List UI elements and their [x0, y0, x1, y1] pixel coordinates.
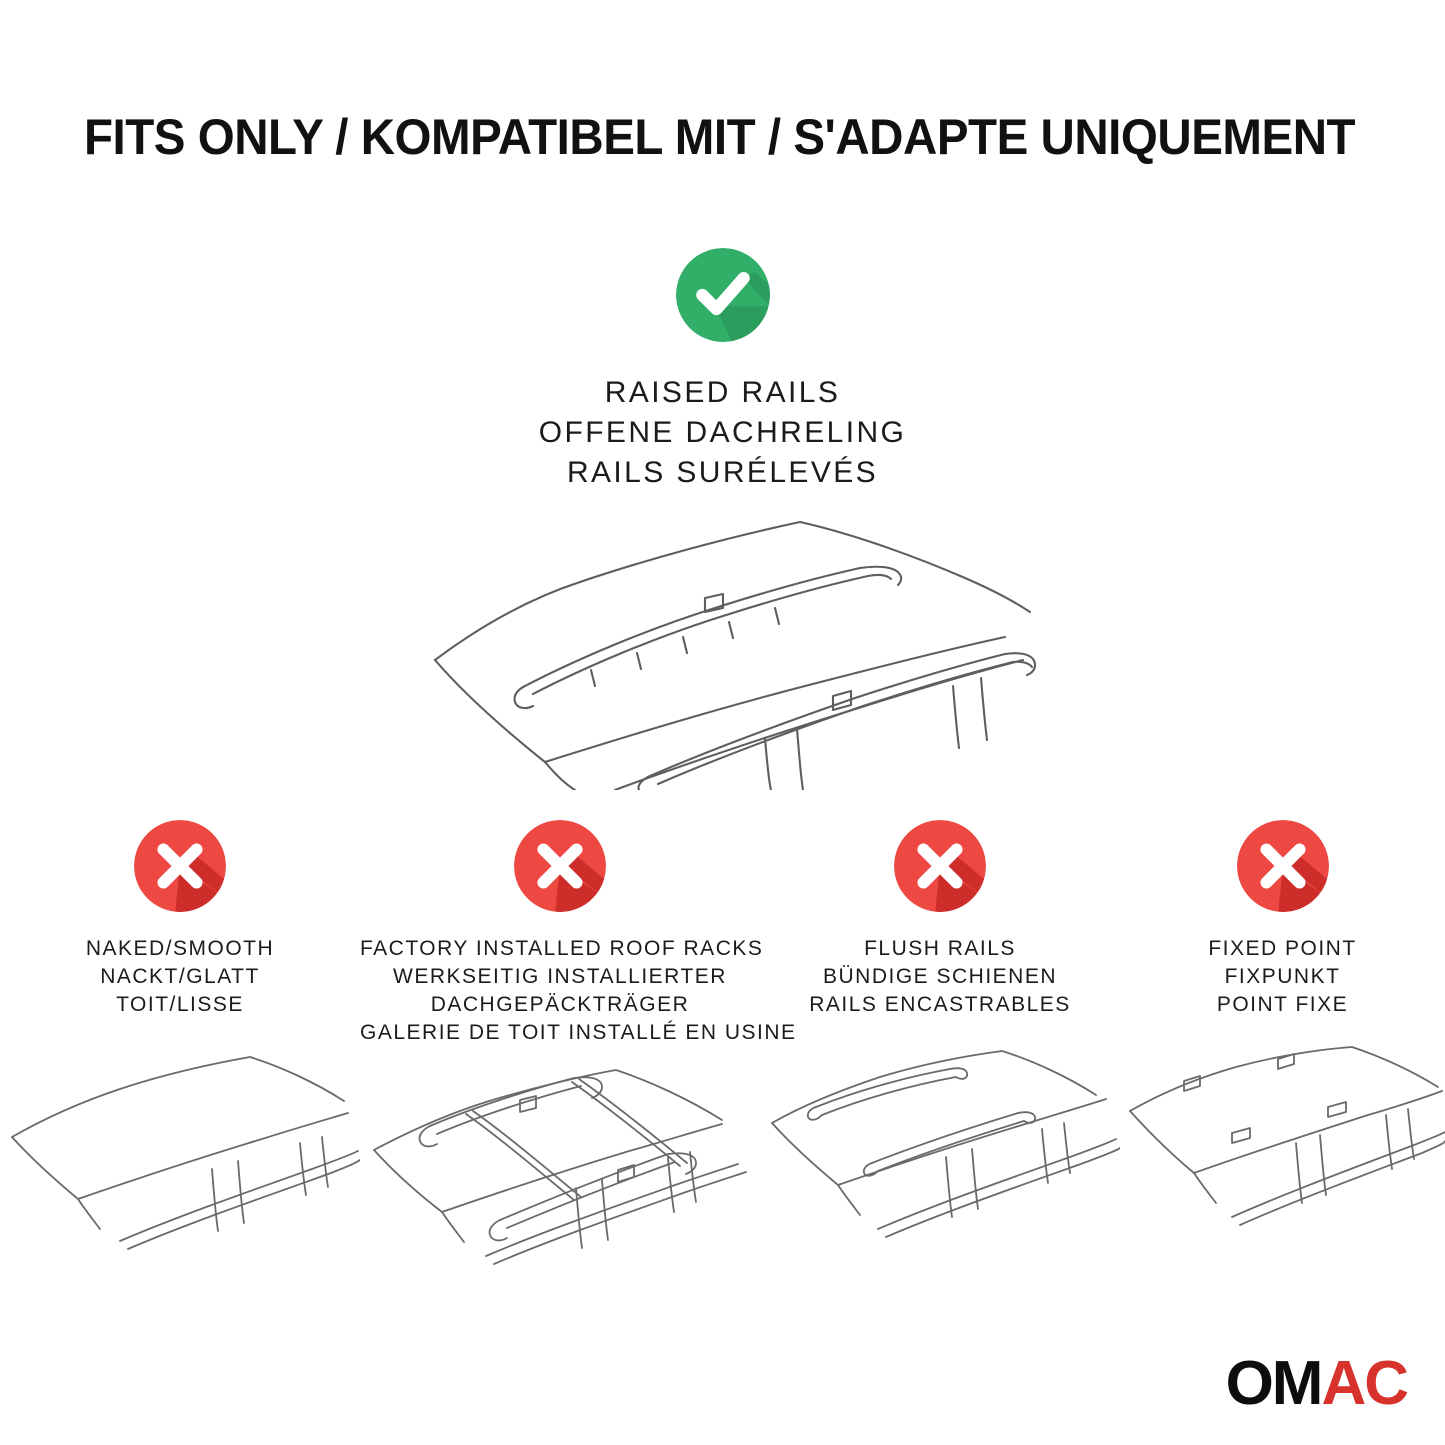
page-title: FITS ONLY / KOMPATIBEL MIT / S'ADAPTE UN… — [84, 108, 1310, 166]
caption-line-de: BÜNDIGE SCHIENEN — [760, 963, 1120, 991]
incompatible-column-fixed-point: FIXED POINT FIXPUNKT POINT FIXE — [1120, 820, 1445, 1292]
incompatible-caption: NAKED/SMOOTH NACKT/GLATT TOIT/LISSE — [0, 935, 360, 1019]
cross-circle-icon — [894, 820, 986, 912]
caption-line-de-2: DACHGEPÄCKTRÄGER — [360, 991, 760, 1019]
caption-line-fr: TOIT/LISSE — [0, 991, 360, 1019]
caption-line-en: FACTORY INSTALLED ROOF RACKS — [360, 935, 760, 963]
cross-circle-icon — [514, 820, 606, 912]
incompatible-caption: FLUSH RAILS BÜNDIGE SCHIENEN RAILS ENCAS… — [760, 935, 1120, 1019]
incompatible-column-naked-smooth: NAKED/SMOOTH NACKT/GLATT TOIT/LISSE — [0, 820, 360, 1292]
caption-line-de: NACKT/GLATT — [0, 963, 360, 991]
caption-line-de-1: WERKSEITIG INSTALLIERTER — [360, 963, 760, 991]
caption-line-en: NAKED/SMOOTH — [0, 935, 360, 963]
caption-line-fr: GALERIE DE TOIT INSTALLÉ EN USINE — [360, 1019, 760, 1047]
caption-line-en: FIXED POINT — [1120, 935, 1445, 963]
incompatible-caption: FIXED POINT FIXPUNKT POINT FIXE — [1120, 935, 1445, 1019]
compatible-line-de: OFFENE DACHRELING — [0, 413, 1445, 453]
caption-line-en: FLUSH RAILS — [760, 935, 1120, 963]
car-roof-raised-rails-illustration — [405, 490, 1045, 790]
check-circle-icon — [676, 248, 770, 342]
incompatible-caption: FACTORY INSTALLED ROOF RACKS WERKSEITIG … — [360, 935, 760, 1048]
car-roof-factory-roof-racks-illustration — [360, 1062, 760, 1292]
car-roof-naked-smooth-illustration — [0, 1045, 360, 1275]
incompatible-sections: NAKED/SMOOTH NACKT/GLATT TOIT/LISSE — [0, 820, 1445, 1292]
omac-logo: OMAC — [1226, 1353, 1407, 1415]
cross-circle-icon — [1237, 820, 1329, 912]
compatible-section: RAISED RAILS OFFENE DACHRELING RAILS SUR… — [0, 248, 1445, 493]
caption-line-fr: POINT FIXE — [1120, 991, 1445, 1019]
incompatible-column-flush-rails: FLUSH RAILS BÜNDIGE SCHIENEN RAILS ENCAS… — [760, 820, 1120, 1292]
car-roof-fixed-point-illustration — [1120, 1045, 1445, 1275]
compatible-caption: RAISED RAILS OFFENE DACHRELING RAILS SUR… — [0, 373, 1445, 493]
cross-circle-icon — [134, 820, 226, 912]
car-roof-flush-rails-illustration — [760, 1045, 1120, 1275]
incompatible-column-factory-roof-racks: FACTORY INSTALLED ROOF RACKS WERKSEITIG … — [360, 820, 760, 1292]
compatible-line-en: RAISED RAILS — [0, 373, 1445, 413]
compatibility-infographic: FITS ONLY / KOMPATIBEL MIT / S'ADAPTE UN… — [0, 0, 1445, 1445]
logo-text-dark: OM — [1226, 1349, 1322, 1418]
caption-line-de: FIXPUNKT — [1120, 963, 1445, 991]
logo-text-red: AC — [1321, 1349, 1407, 1418]
caption-line-fr: RAILS ENCASTRABLES — [760, 991, 1120, 1019]
compatible-line-fr: RAILS SURÉLEVÉS — [0, 453, 1445, 493]
